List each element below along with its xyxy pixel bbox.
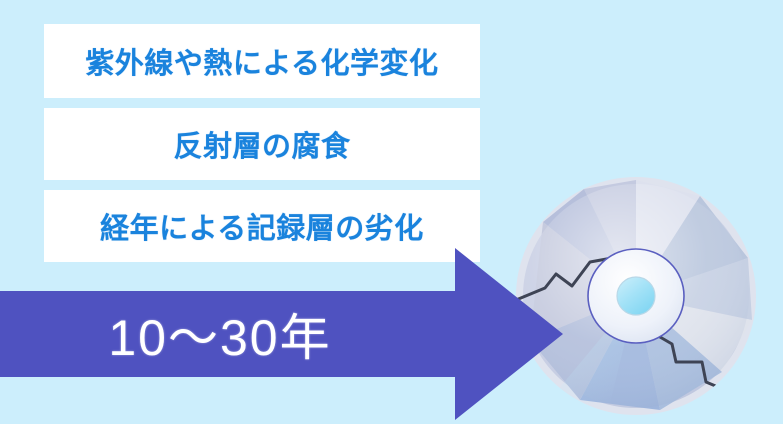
issue-box-label: 反射層の腐食 [173, 123, 350, 165]
disc-hub [588, 249, 684, 343]
issue-box-label: 紫外線や熱による化学変化 [85, 40, 438, 82]
disc-crack-lower-right [648, 330, 744, 392]
infographic-canvas: 紫外線や熱による化学変化 反射層の腐食 経年による記録層の劣化 10〜30年 [0, 0, 783, 424]
issue-box-label: 経年による記録層の劣化 [100, 205, 424, 247]
arrow-duration-label: 10〜30年 [0, 291, 440, 377]
disc-segments [516, 180, 752, 412]
issue-box-recording-layer-degradation: 経年による記録層の劣化 [44, 190, 480, 262]
issue-box-reflective-layer-corrosion: 反射層の腐食 [44, 108, 480, 180]
disc-crack-upper-left [516, 258, 630, 300]
issue-box-chemical-change: 紫外線や熱による化学変化 [44, 24, 480, 98]
disc-outer-rim [516, 177, 756, 415]
disc-center-hole [617, 277, 655, 315]
